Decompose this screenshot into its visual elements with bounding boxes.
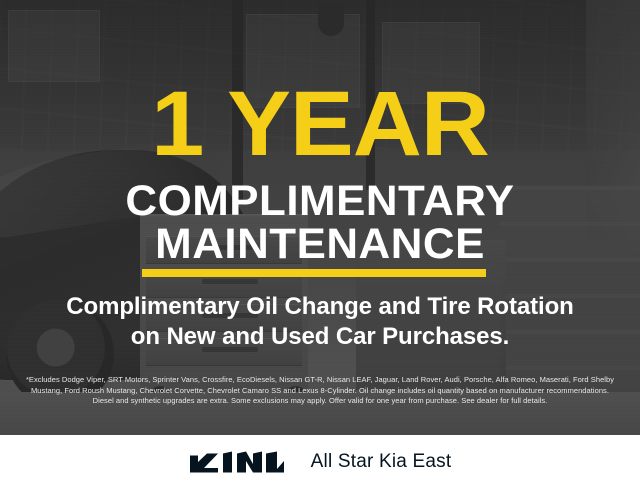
disclaimer-text: *Excludes Dodge Viper, SRT Motors, Sprin…	[14, 375, 626, 407]
offer-description-line2: on New and Used Car Purchases.	[0, 322, 640, 352]
subheadline-complimentary: COMPLIMENTARY	[0, 179, 640, 223]
subheadline-maintenance: MAINTENANCE	[0, 222, 640, 266]
yellow-divider-rule	[142, 269, 486, 277]
promotional-banner: 1 YEAR COMPLIMENTARY MAINTENANCE Complim…	[0, 0, 640, 488]
dealer-name: All Star Kia East	[311, 451, 452, 473]
offer-description-line1: Complimentary Oil Change and Tire Rotati…	[0, 292, 640, 322]
promo-content: 1 YEAR COMPLIMENTARY MAINTENANCE Complim…	[0, 0, 640, 435]
disclaimer-line-1: *Excludes Dodge Viper, SRT Motors, Sprin…	[14, 375, 626, 386]
disclaimer-line-3: Diesel and synthetic upgrades are extra.…	[14, 396, 626, 407]
offer-description: Complimentary Oil Change and Tire Rotati…	[0, 292, 640, 352]
disclaimer-line-2: Mustang, Ford Roush Mustang, Chevrolet C…	[14, 386, 626, 397]
dealer-footer: All Star Kia East	[0, 435, 640, 488]
kia-logo	[189, 449, 285, 475]
headline-1-year: 1 YEAR	[0, 78, 640, 170]
